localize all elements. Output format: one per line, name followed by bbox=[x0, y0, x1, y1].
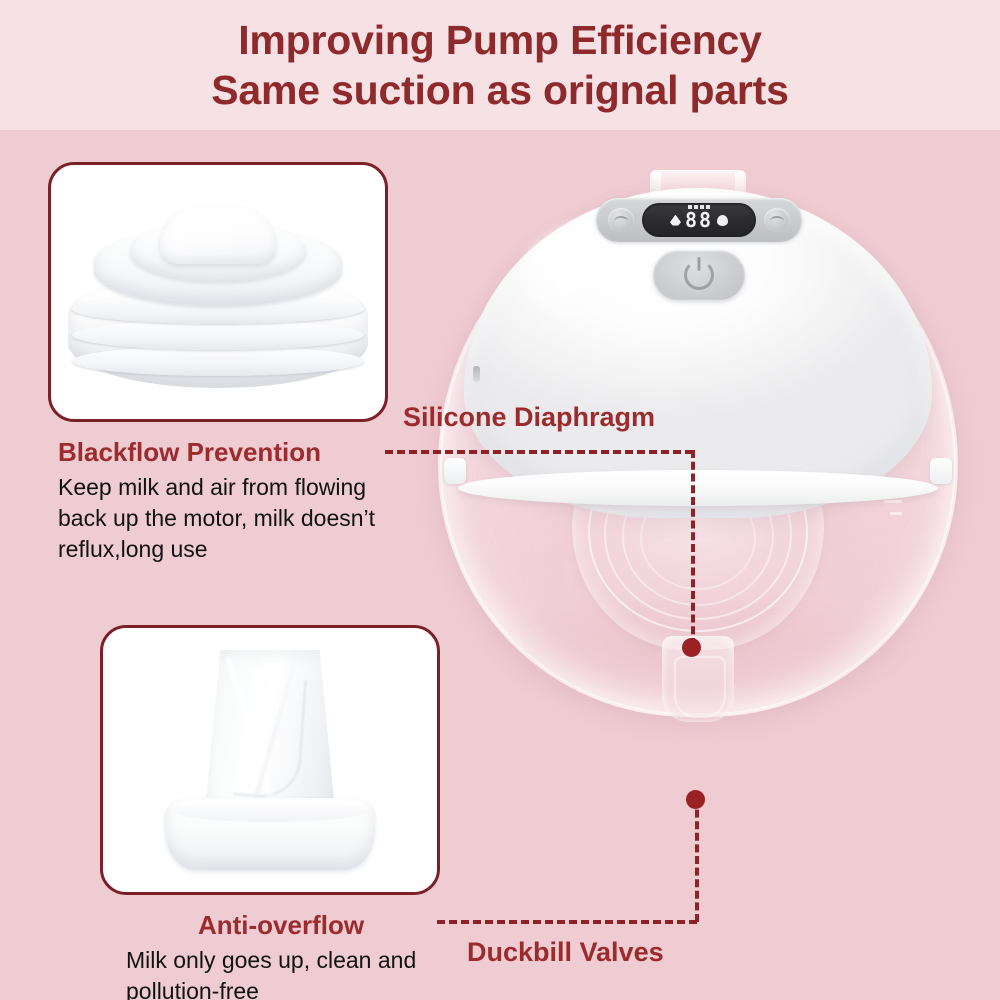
power-icon bbox=[684, 260, 714, 290]
feature-title-backflow: Blackflow Prevention bbox=[58, 435, 458, 469]
power-button[interactable] bbox=[653, 250, 745, 300]
connector-dot-diaphragm bbox=[682, 638, 701, 657]
dome-bottom-lip bbox=[458, 470, 938, 506]
feature-body-backflow-line-1: Keep milk and air from flowing bbox=[58, 472, 458, 503]
feature-caption-backflow: Blackflow Prevention Keep milk and air f… bbox=[58, 435, 458, 565]
header-banner: Improving Pump Efficiency Same suction a… bbox=[0, 0, 1000, 130]
dome-clip-right bbox=[930, 458, 952, 484]
diaphragm-rib-2 bbox=[72, 320, 364, 350]
feature-title-anti-overflow: Anti-overflow bbox=[122, 908, 440, 942]
mode-down-button[interactable] bbox=[608, 208, 634, 232]
connector-line-diaphragm-vertical bbox=[691, 450, 695, 646]
lcd-digits: 88 bbox=[685, 210, 713, 230]
feature-body-anti-overflow: Milk only goes up, clean and pollution-f… bbox=[122, 945, 522, 1000]
mode-up-button[interactable] bbox=[764, 208, 790, 232]
dome-vent-port bbox=[473, 366, 480, 382]
connector-dot-duckbill bbox=[686, 790, 705, 809]
feature-body-backflow-line-2: back up the motor, milk doesn’t bbox=[58, 503, 458, 534]
duckbill-valve-part-image bbox=[103, 628, 437, 892]
feature-body-backflow-line-3: reflux,long use bbox=[58, 534, 458, 565]
cloud-icon bbox=[717, 215, 728, 226]
connector-line-duckbill-vertical bbox=[695, 798, 699, 922]
pump-lcd-display: 88 bbox=[642, 203, 756, 237]
diaphragm-rib-1 bbox=[72, 346, 364, 376]
header-title-line-1: Improving Pump Efficiency bbox=[238, 15, 762, 65]
header-title-line-2: Same suction as orignal parts bbox=[211, 65, 789, 115]
feature-caption-anti-overflow: Anti-overflow Milk only goes up, clean a… bbox=[122, 908, 522, 1000]
duckbill-base-lip bbox=[173, 800, 367, 822]
feature-card-anti-overflow bbox=[100, 625, 440, 895]
diaphragm-center-dome bbox=[160, 206, 276, 264]
battery-level-bars bbox=[688, 205, 710, 209]
feature-body-anti-overflow-line-2: pollution-free bbox=[126, 976, 522, 1000]
callout-label-silicone-diaphragm: Silicone Diaphragm bbox=[403, 400, 655, 434]
silicone-diaphragm-part-image bbox=[51, 165, 385, 419]
droplet-icon bbox=[670, 215, 681, 226]
feature-body-backflow: Keep milk and air from flowing back up t… bbox=[58, 472, 458, 565]
infographic-stage: 88 Silicone Diaphragm Duckbill Valves bbox=[0, 130, 1000, 1000]
feature-card-backflow bbox=[48, 162, 388, 422]
feature-body-anti-overflow-line-1: Milk only goes up, clean and bbox=[126, 945, 522, 976]
pump-control-panel[interactable]: 88 bbox=[596, 198, 802, 242]
